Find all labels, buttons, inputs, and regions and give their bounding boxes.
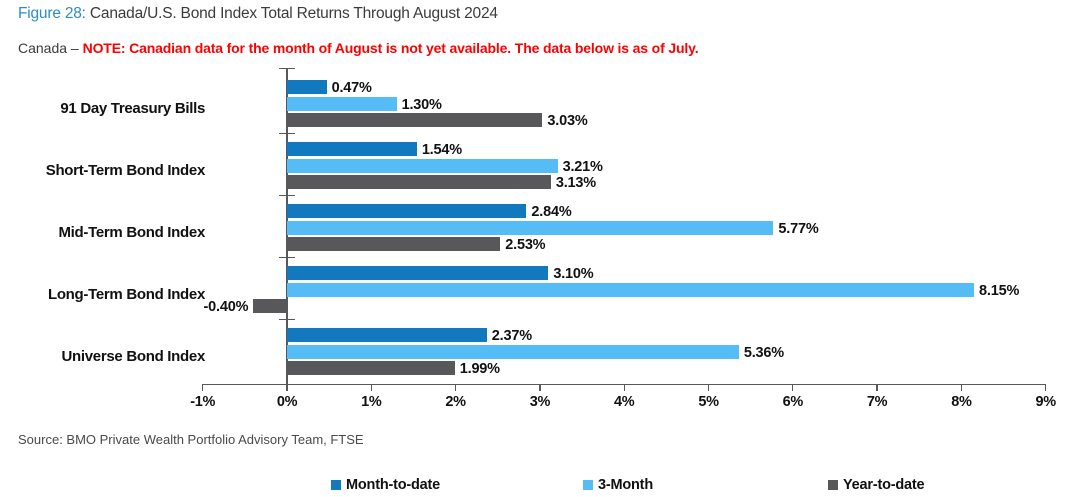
bar-value-label: 5.77% (778, 222, 818, 236)
bar-value-label: 2.53% (505, 238, 545, 252)
bar-month-to-date (287, 142, 417, 156)
bar-month-to-date (287, 328, 487, 342)
x-axis-tick (1045, 384, 1046, 391)
legend-label: 3-Month (598, 477, 653, 493)
x-axis-tick (792, 384, 793, 391)
bar-year-to-date (287, 237, 500, 251)
x-axis-tick (961, 384, 962, 391)
bar-value-label: 2.84% (531, 205, 571, 219)
bar-value-label: 3.03% (547, 114, 587, 128)
bar-year-to-date (287, 175, 551, 189)
bar-value-label: 5.36% (744, 346, 784, 360)
bar-value-label: 0.47% (332, 81, 372, 95)
category-separator-tick (279, 195, 295, 196)
x-axis-tick-label: 5% (698, 394, 718, 410)
bar-3-month (287, 283, 974, 297)
subnote: Canada – NOTE: Canadian data for the mon… (18, 40, 698, 56)
bar-value-label: 1.54% (422, 143, 462, 157)
x-axis-tick-label: 0% (277, 394, 297, 410)
source-note: Source: BMO Private Wealth Portfolio Adv… (18, 432, 364, 447)
bar-month-to-date (287, 204, 526, 218)
x-axis-tick (286, 384, 287, 391)
x-axis-tick-label: -1% (190, 394, 215, 410)
plot-area: -1%0%1%2%3%4%5%6%7%8%9%91 Day Treasury B… (0, 66, 1069, 384)
category-label: Mid-Term Bond Index (0, 224, 205, 241)
legend-item-m3[interactable]: 3-Month (583, 477, 653, 493)
x-axis-tick (708, 384, 709, 391)
x-axis-tick (202, 384, 203, 391)
figure-number: Figure 28: (18, 5, 86, 22)
category-separator-tick (279, 257, 295, 258)
bar-value-label: 3.10% (553, 267, 593, 281)
category-label: 91 Day Treasury Bills (0, 100, 205, 117)
bar-year-to-date (253, 299, 287, 313)
category-label: Universe Bond Index (0, 348, 205, 365)
x-axis-tick (371, 384, 372, 391)
legend-swatch-icon (828, 480, 838, 490)
legend-label: Year-to-date (843, 477, 924, 493)
category-label: Short-Term Bond Index (0, 162, 205, 179)
bar-value-label: 2.37% (492, 329, 532, 343)
bar-3-month (287, 221, 773, 235)
subnote-warning: NOTE: Canadian data for the month of Aug… (83, 40, 699, 56)
x-axis-tick-label: 7% (867, 394, 887, 410)
subnote-country: Canada – (18, 40, 83, 56)
bar-value-label: -0.40% (204, 300, 249, 314)
x-axis-tick-label: 6% (783, 394, 803, 410)
figure-title-text: Canada/U.S. Bond Index Total Returns Thr… (90, 5, 498, 22)
x-axis-tick-label: 9% (1036, 394, 1056, 410)
legend-swatch-icon (331, 480, 341, 490)
x-axis-tick-label: 1% (361, 394, 381, 410)
x-axis-tick-label: 4% (614, 394, 634, 410)
chart-legend: Month-to-date3-MonthYear-to-date (0, 475, 1069, 497)
x-axis-tick-label: 8% (951, 394, 971, 410)
x-axis-tick (624, 384, 625, 391)
bar-month-to-date (287, 266, 548, 280)
x-axis-tick (876, 384, 877, 391)
x-axis-tick (455, 384, 456, 391)
bar-month-to-date (287, 80, 327, 94)
bar-value-label: 1.99% (460, 362, 500, 376)
bar-chart: -1%0%1%2%3%4%5%6%7%8%9%91 Day Treasury B… (0, 66, 1069, 406)
bar-year-to-date (287, 361, 455, 375)
category-separator-tick (279, 133, 295, 134)
bar-value-label: 3.21% (563, 160, 603, 174)
bar-3-month (287, 97, 397, 111)
legend-item-mtd[interactable]: Month-to-date (331, 477, 440, 493)
legend-swatch-icon (583, 480, 593, 490)
x-axis-tick-label: 2% (445, 394, 465, 410)
legend-label: Month-to-date (346, 477, 440, 493)
legend-item-ytd[interactable]: Year-to-date (828, 477, 924, 493)
page-title: Figure 28: Canada/U.S. Bond Index Total … (18, 5, 498, 23)
bar-3-month (287, 345, 739, 359)
x-axis-tick (539, 384, 540, 391)
bar-3-month (287, 159, 558, 173)
bar-year-to-date (287, 113, 542, 127)
category-label: Long-Term Bond Index (0, 286, 205, 303)
x-axis-tick-label: 3% (530, 394, 550, 410)
category-separator-tick (279, 319, 295, 320)
axis-top-cap-tick (279, 68, 295, 69)
bar-value-label: 1.30% (402, 98, 442, 112)
bar-value-label: 3.13% (556, 176, 596, 190)
bar-value-label: 8.15% (979, 284, 1019, 298)
